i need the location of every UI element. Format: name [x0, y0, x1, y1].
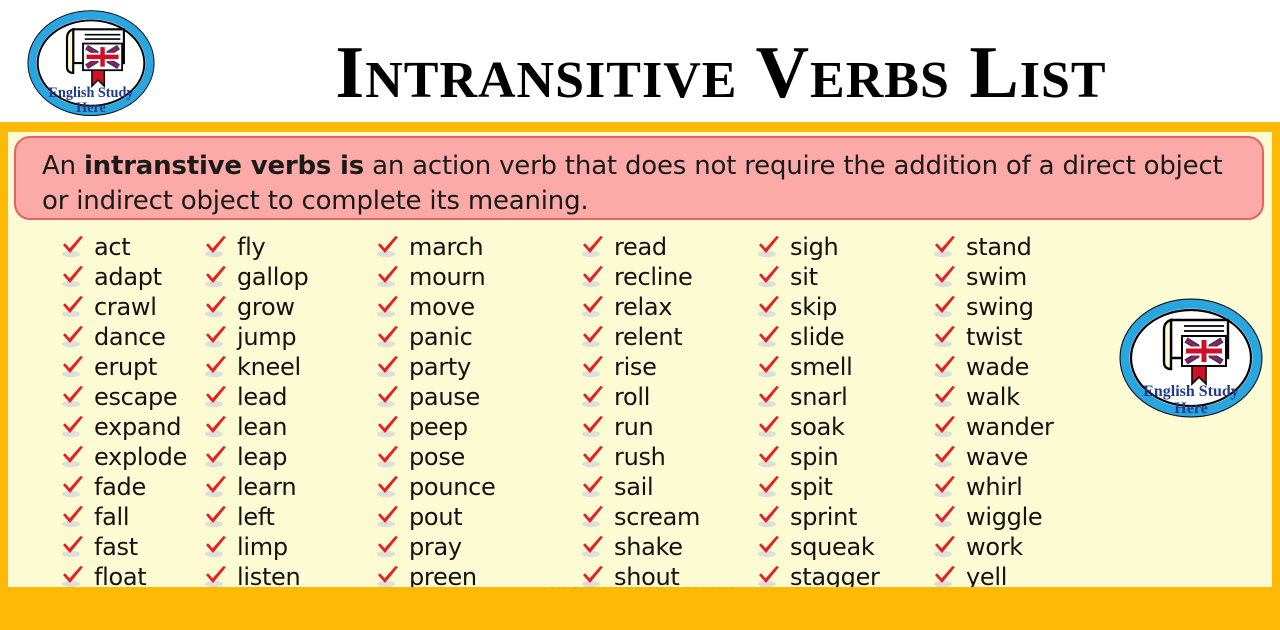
verb-list-item: walk [932, 382, 1131, 412]
check-icon [375, 415, 401, 439]
verb-label: sigh [790, 233, 838, 261]
check-icon [756, 295, 782, 319]
verb-list-item: soak [756, 412, 931, 442]
verb-list-item: adapt [60, 262, 202, 292]
check-icon [580, 385, 606, 409]
check-icon [756, 355, 782, 379]
definition-lead: An [42, 151, 84, 181]
verb-label: escape [94, 383, 177, 411]
check-icon [60, 265, 86, 289]
verb-label: march [409, 233, 483, 261]
check-icon [60, 415, 86, 439]
verb-label: wander [966, 413, 1054, 441]
verb-label: sail [614, 473, 653, 501]
check-icon [375, 445, 401, 469]
verb-label: wade [966, 353, 1029, 381]
verb-label: explode [94, 443, 187, 471]
verb-list-item: jump [203, 322, 374, 352]
verb-label: dance [94, 323, 166, 351]
verb-list-item: pose [375, 442, 579, 472]
verb-list-item: pause [375, 382, 579, 412]
verb-list-item: wander [932, 412, 1131, 442]
verb-label: fall [94, 503, 129, 531]
verb-list-item: lead [203, 382, 374, 412]
verb-label: lean [237, 413, 287, 441]
check-icon [60, 355, 86, 379]
verb-list-item: party [375, 352, 579, 382]
check-icon [932, 565, 958, 589]
verb-list-item: wiggle [932, 502, 1131, 532]
logo-line2: Here [76, 100, 106, 116]
verb-label: grow [237, 293, 295, 321]
verb-label: stand [966, 233, 1032, 261]
verb-label: fast [94, 533, 138, 561]
verb-label: recline [614, 263, 693, 291]
verb-label: roll [614, 383, 650, 411]
verb-list-item: relax [580, 292, 755, 322]
verb-list-item: sit [756, 262, 931, 292]
verb-list-item: explode [60, 442, 202, 472]
verb-label: pose [409, 443, 465, 471]
check-icon [375, 355, 401, 379]
verb-label: swing [966, 293, 1034, 321]
definition-emphasis: intranstive verbs is [84, 151, 364, 181]
verb-list-item: pray [375, 532, 579, 562]
verb-label: jump [237, 323, 296, 351]
watermark-line2: Here [1174, 400, 1207, 417]
check-icon [756, 385, 782, 409]
verb-list-item: escape [60, 382, 202, 412]
check-icon [580, 505, 606, 529]
verb-list-item: sail [580, 472, 755, 502]
verb-label: pray [409, 533, 462, 561]
verb-label: spin [790, 443, 838, 471]
verb-label: relax [614, 293, 672, 321]
check-icon [203, 565, 229, 589]
check-icon [203, 445, 229, 469]
verb-label: move [409, 293, 475, 321]
check-icon [60, 295, 86, 319]
check-icon [580, 235, 606, 259]
verb-label: fade [94, 473, 146, 501]
check-icon [580, 475, 606, 499]
check-icon [580, 445, 606, 469]
verb-label: gallop [237, 263, 308, 291]
verb-list-item: move [375, 292, 579, 322]
verb-list-item: learn [203, 472, 374, 502]
check-icon [932, 295, 958, 319]
check-icon [756, 565, 782, 589]
verb-list-item: fast [60, 532, 202, 562]
verb-list-item: shake [580, 532, 755, 562]
verb-list-item: expand [60, 412, 202, 442]
verb-list-item: stand [932, 232, 1131, 262]
check-icon [580, 415, 606, 439]
check-icon [932, 505, 958, 529]
verb-label: swim [966, 263, 1027, 291]
check-icon [375, 475, 401, 499]
check-icon [203, 325, 229, 349]
verb-list-item: panic [375, 322, 579, 352]
verb-label: adapt [94, 263, 162, 291]
verb-label: slide [790, 323, 844, 351]
verb-list-item: crawl [60, 292, 202, 322]
verb-label: shake [614, 533, 683, 561]
verb-list-item: fade [60, 472, 202, 502]
verb-list-item: skip [756, 292, 931, 322]
verb-label: scream [614, 503, 700, 531]
english-study-here-watermark: English Study Here [1116, 296, 1266, 422]
verb-list-item: left [203, 502, 374, 532]
verb-list-item: twist [932, 322, 1131, 352]
check-icon [60, 385, 86, 409]
verb-label: whirl [966, 473, 1023, 501]
verb-label: learn [237, 473, 296, 501]
verb-label: left [237, 503, 275, 531]
verb-label: crawl [94, 293, 157, 321]
verb-list-item: kneel [203, 352, 374, 382]
check-icon [203, 415, 229, 439]
verb-list-item: swing [932, 292, 1131, 322]
verb-label: pounce [409, 473, 496, 501]
verb-list-item: squeak [756, 532, 931, 562]
check-icon [756, 475, 782, 499]
verb-list-item: recline [580, 262, 755, 292]
verb-label: pout [409, 503, 462, 531]
check-icon [932, 325, 958, 349]
verb-list-item: pout [375, 502, 579, 532]
verb-column-5: standswimswingtwistwadewalkwanderwavewhi… [931, 232, 1131, 592]
poster-header: English Study Here Intransitive Verbs Li… [0, 0, 1280, 122]
check-icon [375, 265, 401, 289]
verb-label: rush [614, 443, 666, 471]
check-icon [580, 535, 606, 559]
verb-label: act [94, 233, 130, 261]
verb-list-item: mourn [375, 262, 579, 292]
verb-label: mourn [409, 263, 485, 291]
check-icon [932, 445, 958, 469]
verb-list-item: sigh [756, 232, 931, 262]
check-icon [203, 235, 229, 259]
verb-label: peep [409, 413, 468, 441]
footer-cut-text: englishstudyhere.com [0, 587, 1280, 593]
verb-list-item: slide [756, 322, 931, 352]
verb-label: limp [237, 533, 288, 561]
verb-list-item: swim [932, 262, 1131, 292]
verb-list-item: work [932, 532, 1131, 562]
verb-list-item: erupt [60, 352, 202, 382]
verb-list-item: gallop [203, 262, 374, 292]
verb-list-item: grow [203, 292, 374, 322]
verb-list-item: lean [203, 412, 374, 442]
verb-label: squeak [790, 533, 875, 561]
verb-list-item: wave [932, 442, 1131, 472]
check-icon [375, 535, 401, 559]
check-icon [375, 325, 401, 349]
verb-label: fly [237, 233, 265, 261]
verb-label: relent [614, 323, 682, 351]
check-icon [203, 385, 229, 409]
check-icon [932, 535, 958, 559]
verb-list-item: run [580, 412, 755, 442]
content-panel: An intranstive verbs is an action verb t… [8, 132, 1272, 597]
verb-list-item: pounce [375, 472, 579, 502]
verb-column-4: sighsitskipslidesmellsnarlsoakspinspitsp… [755, 232, 931, 592]
verb-column-3: readreclinerelaxrelentriserollrunrushsai… [579, 232, 755, 592]
verb-label: lead [237, 383, 287, 411]
verb-list-item: whirl [932, 472, 1131, 502]
verb-label: leap [237, 443, 287, 471]
verb-label: pause [409, 383, 480, 411]
verb-label: read [614, 233, 667, 261]
verb-label: run [614, 413, 653, 441]
verb-list-item: limp [203, 532, 374, 562]
verb-list-item: dance [60, 322, 202, 352]
verb-label: soak [790, 413, 845, 441]
verb-label: expand [94, 413, 181, 441]
check-icon [756, 325, 782, 349]
verb-list-item: fall [60, 502, 202, 532]
verb-label: party [409, 353, 471, 381]
check-icon [375, 295, 401, 319]
check-icon [375, 565, 401, 589]
verb-list-item: roll [580, 382, 755, 412]
english-study-here-logo: English Study Here [12, 8, 170, 120]
check-icon [756, 505, 782, 529]
check-icon [60, 565, 86, 589]
check-icon [580, 565, 606, 589]
check-icon [375, 505, 401, 529]
verb-list-item: snarl [756, 382, 931, 412]
verb-list-item: read [580, 232, 755, 262]
verb-list-item: leap [203, 442, 374, 472]
check-icon [203, 475, 229, 499]
verb-columns: actadaptcrawldanceeruptescapeexpandexplo… [8, 232, 1272, 592]
verb-list-item: spit [756, 472, 931, 502]
check-icon [580, 265, 606, 289]
check-icon [203, 535, 229, 559]
check-icon [932, 475, 958, 499]
check-icon [756, 265, 782, 289]
check-icon [375, 385, 401, 409]
verb-column-0: actadaptcrawldanceeruptescapeexpandexplo… [8, 232, 202, 592]
verb-column-1: flygallopgrowjumpkneelleadleanleaplearnl… [202, 232, 374, 592]
verb-list-item: wade [932, 352, 1131, 382]
check-icon [932, 235, 958, 259]
check-icon [60, 235, 86, 259]
verb-list-item: scream [580, 502, 755, 532]
verb-label: spit [790, 473, 833, 501]
poster: English Study Here Intransitive Verbs Li… [0, 0, 1280, 630]
check-icon [932, 355, 958, 379]
verb-label: wiggle [966, 503, 1042, 531]
verb-label: walk [966, 383, 1020, 411]
verb-list-item: relent [580, 322, 755, 352]
verb-label: work [966, 533, 1023, 561]
verb-label: sprint [790, 503, 857, 531]
content-frame: An intranstive verbs is an action verb t… [0, 122, 1280, 630]
check-icon [60, 325, 86, 349]
verb-list-item: rise [580, 352, 755, 382]
check-icon [756, 415, 782, 439]
verb-label: panic [409, 323, 473, 351]
check-icon [580, 355, 606, 379]
check-icon [60, 505, 86, 529]
check-icon [932, 265, 958, 289]
definition-text: An intranstive verbs is an action verb t… [42, 149, 1236, 219]
check-icon [60, 475, 86, 499]
verb-list-item: march [375, 232, 579, 262]
check-icon [580, 325, 606, 349]
check-icon [203, 265, 229, 289]
check-icon [60, 535, 86, 559]
check-icon [580, 295, 606, 319]
page-title: Intransitive Verbs List [186, 34, 1256, 112]
verb-list-item: smell [756, 352, 931, 382]
verb-label: twist [966, 323, 1022, 351]
verb-label: wave [966, 443, 1028, 471]
logo-line1: English Study [49, 85, 134, 101]
verb-list-item: rush [580, 442, 755, 472]
footer-strip: englishstudyhere.com [0, 587, 1280, 630]
check-icon [203, 505, 229, 529]
verb-label: skip [790, 293, 837, 321]
check-icon [203, 355, 229, 379]
verb-column-2: marchmournmovepanicpartypausepeepposepou… [374, 232, 579, 592]
check-icon [932, 415, 958, 439]
check-icon [932, 385, 958, 409]
check-icon [203, 295, 229, 319]
verb-label: kneel [237, 353, 301, 381]
check-icon [375, 235, 401, 259]
check-icon [756, 535, 782, 559]
verb-label: sit [790, 263, 818, 291]
check-icon [756, 235, 782, 259]
verb-label: snarl [790, 383, 847, 411]
verb-list-item: fly [203, 232, 374, 262]
verb-label: smell [790, 353, 853, 381]
verb-list-item: act [60, 232, 202, 262]
check-icon [60, 445, 86, 469]
verb-list-item: peep [375, 412, 579, 442]
verb-list-item: spin [756, 442, 931, 472]
check-icon [756, 445, 782, 469]
verb-label: rise [614, 353, 657, 381]
definition-box: An intranstive verbs is an action verb t… [14, 136, 1264, 220]
verb-list-item: sprint [756, 502, 931, 532]
verb-label: erupt [94, 353, 157, 381]
watermark-line1: English Study [1143, 383, 1239, 400]
